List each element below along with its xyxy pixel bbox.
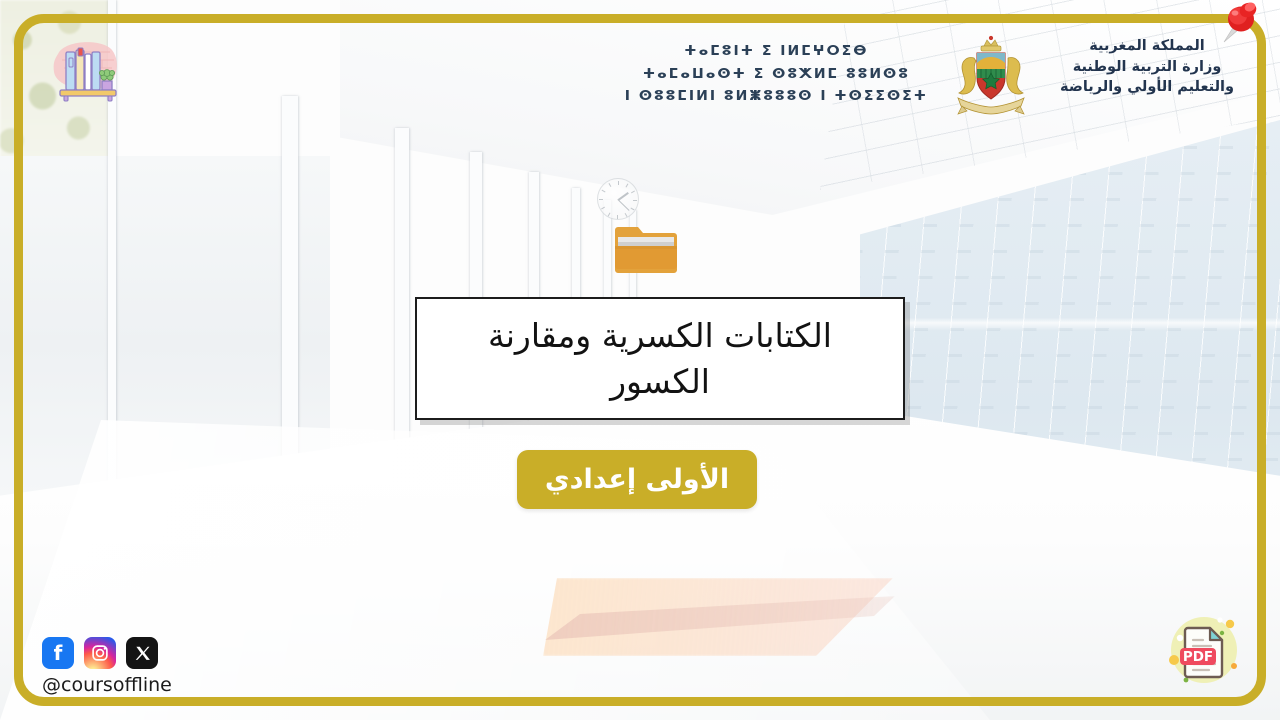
facebook-icon[interactable]: f	[42, 637, 74, 669]
tifinagh-line-2: ⵜⴰⵎⴰⵡⴰⵙⵜ ⵉ ⵙⵓⵅⵍⵎ ⵓⵓⵍⵙⵓ	[625, 63, 928, 86]
social-handle: @coursoffline	[42, 674, 172, 696]
slide-canvas: ⵜⴰⵎⵓⵏⵜ ⵉ ⵏⵍⵎⵖⵔⵉⴱ ⵜⴰⵎⴰⵡⴰⵙⵜ ⵉ ⵙⵓⵅⵍⵎ ⵓⵓⵍⵙⵓ …	[0, 0, 1280, 720]
ministry-name-tifinagh: ⵜⴰⵎⵓⵏⵜ ⵉ ⵏⵍⵎⵖⵔⵉⴱ ⵜⴰⵎⴰⵡⴰⵙⵜ ⵉ ⵙⵓⵅⵍⵎ ⵓⵓⵍⵙⵓ …	[625, 40, 928, 108]
ministry-line-2: وزارة التربية الوطنية	[1060, 57, 1234, 78]
lesson-title-box: الكتابات الكسرية ومقارنة الكسور	[415, 297, 905, 420]
tifinagh-line-1: ⵜⴰⵎⵓⵏⵜ ⵉ ⵏⵍⵎⵖⵔⵉⴱ	[625, 40, 928, 63]
level-badge[interactable]: الأولى إعدادي	[517, 450, 757, 509]
facebook-glyph: f	[54, 641, 63, 665]
morocco-coat-of-arms	[950, 32, 1032, 120]
level-badge-label: الأولى إعدادي	[545, 464, 729, 495]
tifinagh-line-3: ⵏ ⵙⵓⵓⵎⵏⵍⵏ ⵓⵍⵥⵓⵓⵓⵙ ⵏ ⵜⵙⵉⵉⵙⵉⵜ	[625, 85, 928, 108]
social-links: f @coursoffline	[42, 637, 172, 696]
page-title: الكتابات الكسرية ومقارنة الكسور	[443, 313, 877, 404]
folder-icon	[613, 222, 679, 276]
bookshelf-icon	[44, 36, 126, 108]
instagram-icon[interactable]	[84, 637, 116, 669]
wall-clock-icon	[597, 178, 639, 220]
ministry-line-3: والتعليم الأولي والرياضة	[1060, 77, 1234, 98]
header-band: ⵜⴰⵎⵓⵏⵜ ⵉ ⵏⵍⵎⵖⵔⵉⴱ ⵜⴰⵎⴰⵡⴰⵙⵜ ⵉ ⵙⵓⵅⵍⵎ ⵓⵓⵍⵙⵓ …	[0, 0, 1280, 130]
x-twitter-icon[interactable]	[126, 637, 158, 669]
red-pushpin-icon	[1208, 0, 1266, 54]
pdf-file-icon[interactable]: PDF	[1162, 608, 1246, 692]
pdf-badge-label: PDF	[1183, 649, 1213, 665]
social-icon-row: f	[42, 637, 172, 669]
